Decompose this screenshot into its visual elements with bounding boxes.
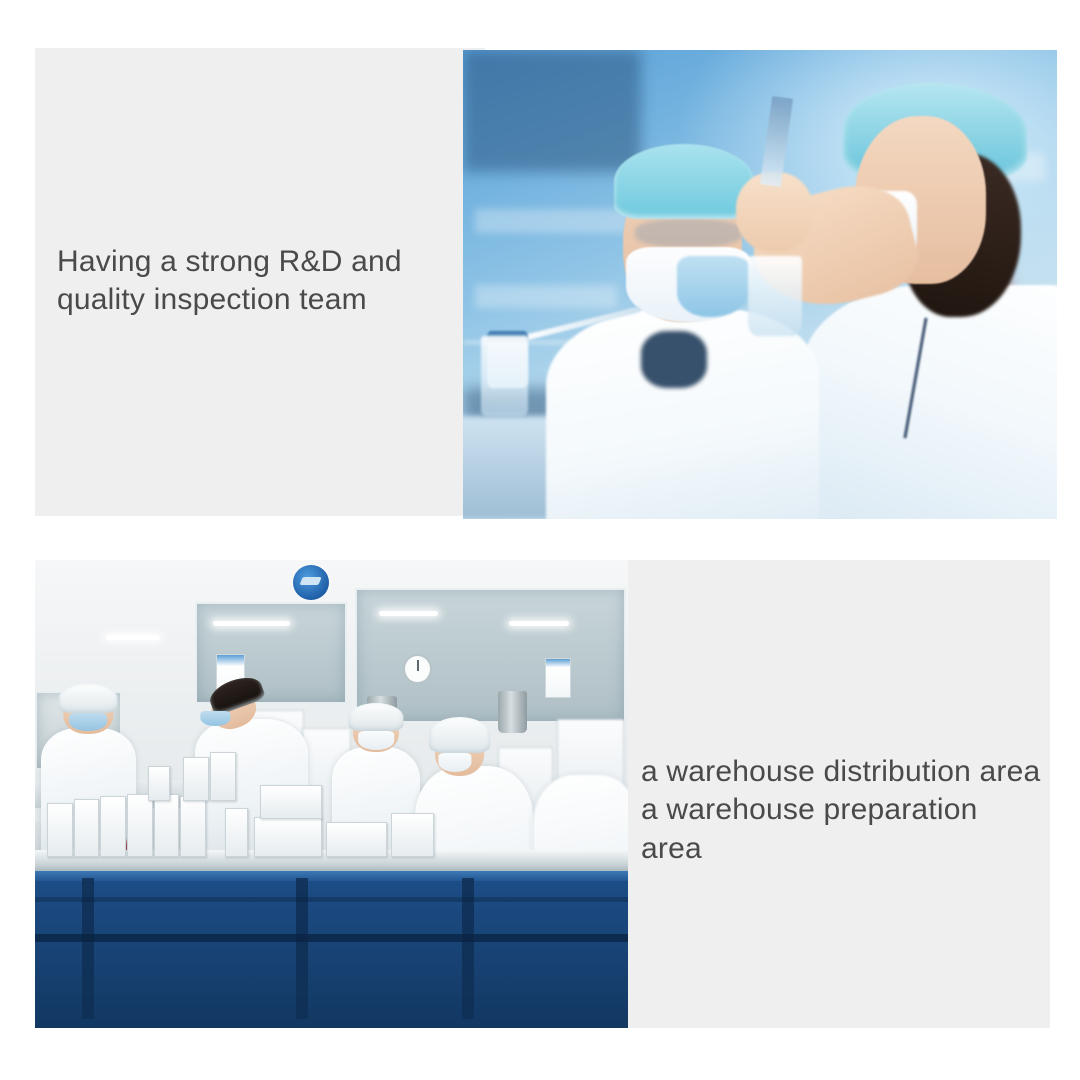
- carton-6: [180, 796, 206, 857]
- carton-tall-3: [148, 766, 171, 801]
- steel-canister-2: [498, 691, 528, 733]
- carton-tall-2: [210, 752, 236, 801]
- carton-7: [225, 808, 248, 857]
- carton-tall-1: [183, 757, 209, 801]
- worker-3-hairnet: [348, 703, 403, 732]
- worker-4-hairnet: [429, 717, 491, 753]
- wall-clock-icon: [403, 654, 432, 684]
- carton-flat-3: [260, 785, 321, 820]
- under-table-floor: [35, 881, 628, 1028]
- carton-4: [127, 794, 153, 857]
- ceiling-light-3: [509, 621, 568, 626]
- wall-notice-right: [545, 658, 571, 697]
- carton-flat-1: [254, 817, 321, 856]
- technician-left-hairnet: [614, 144, 754, 219]
- carton-1: [47, 803, 73, 856]
- top-caption-text: Having a strong R&D and quality inspecti…: [57, 243, 457, 320]
- worker-4-mask: [438, 753, 471, 772]
- technician-left-collar: [641, 331, 706, 387]
- technician-right-coat: [802, 285, 1057, 520]
- lab-rd-photo: [463, 50, 1057, 519]
- technician-left-goggles: [635, 219, 742, 247]
- worker-3-mask: [358, 731, 394, 749]
- lab-dark-corner: [463, 50, 641, 172]
- warehouse-photo: [35, 560, 628, 1028]
- carton-flat-2: [326, 822, 387, 857]
- glass-beaker: [748, 256, 801, 336]
- ceiling-light-1: [213, 621, 290, 626]
- table-rail-upper: [35, 897, 628, 902]
- carton-flat-4: [391, 813, 435, 857]
- glassware-foreground: [481, 336, 529, 416]
- ceiling-light-4: [106, 635, 159, 640]
- company-logo-sign: [293, 565, 329, 600]
- carton-5: [154, 794, 180, 857]
- table-rail-lower: [35, 934, 628, 941]
- carton-3: [100, 796, 126, 857]
- ceiling-light-2: [379, 611, 438, 616]
- lab-shelf-upper: [475, 209, 629, 232]
- bottom-caption-text: a warehouse distribution area a warehous…: [641, 753, 1045, 868]
- carton-2: [74, 799, 100, 857]
- lab-shelf-lower: [475, 285, 618, 308]
- worker-1-hairnet: [59, 684, 118, 713]
